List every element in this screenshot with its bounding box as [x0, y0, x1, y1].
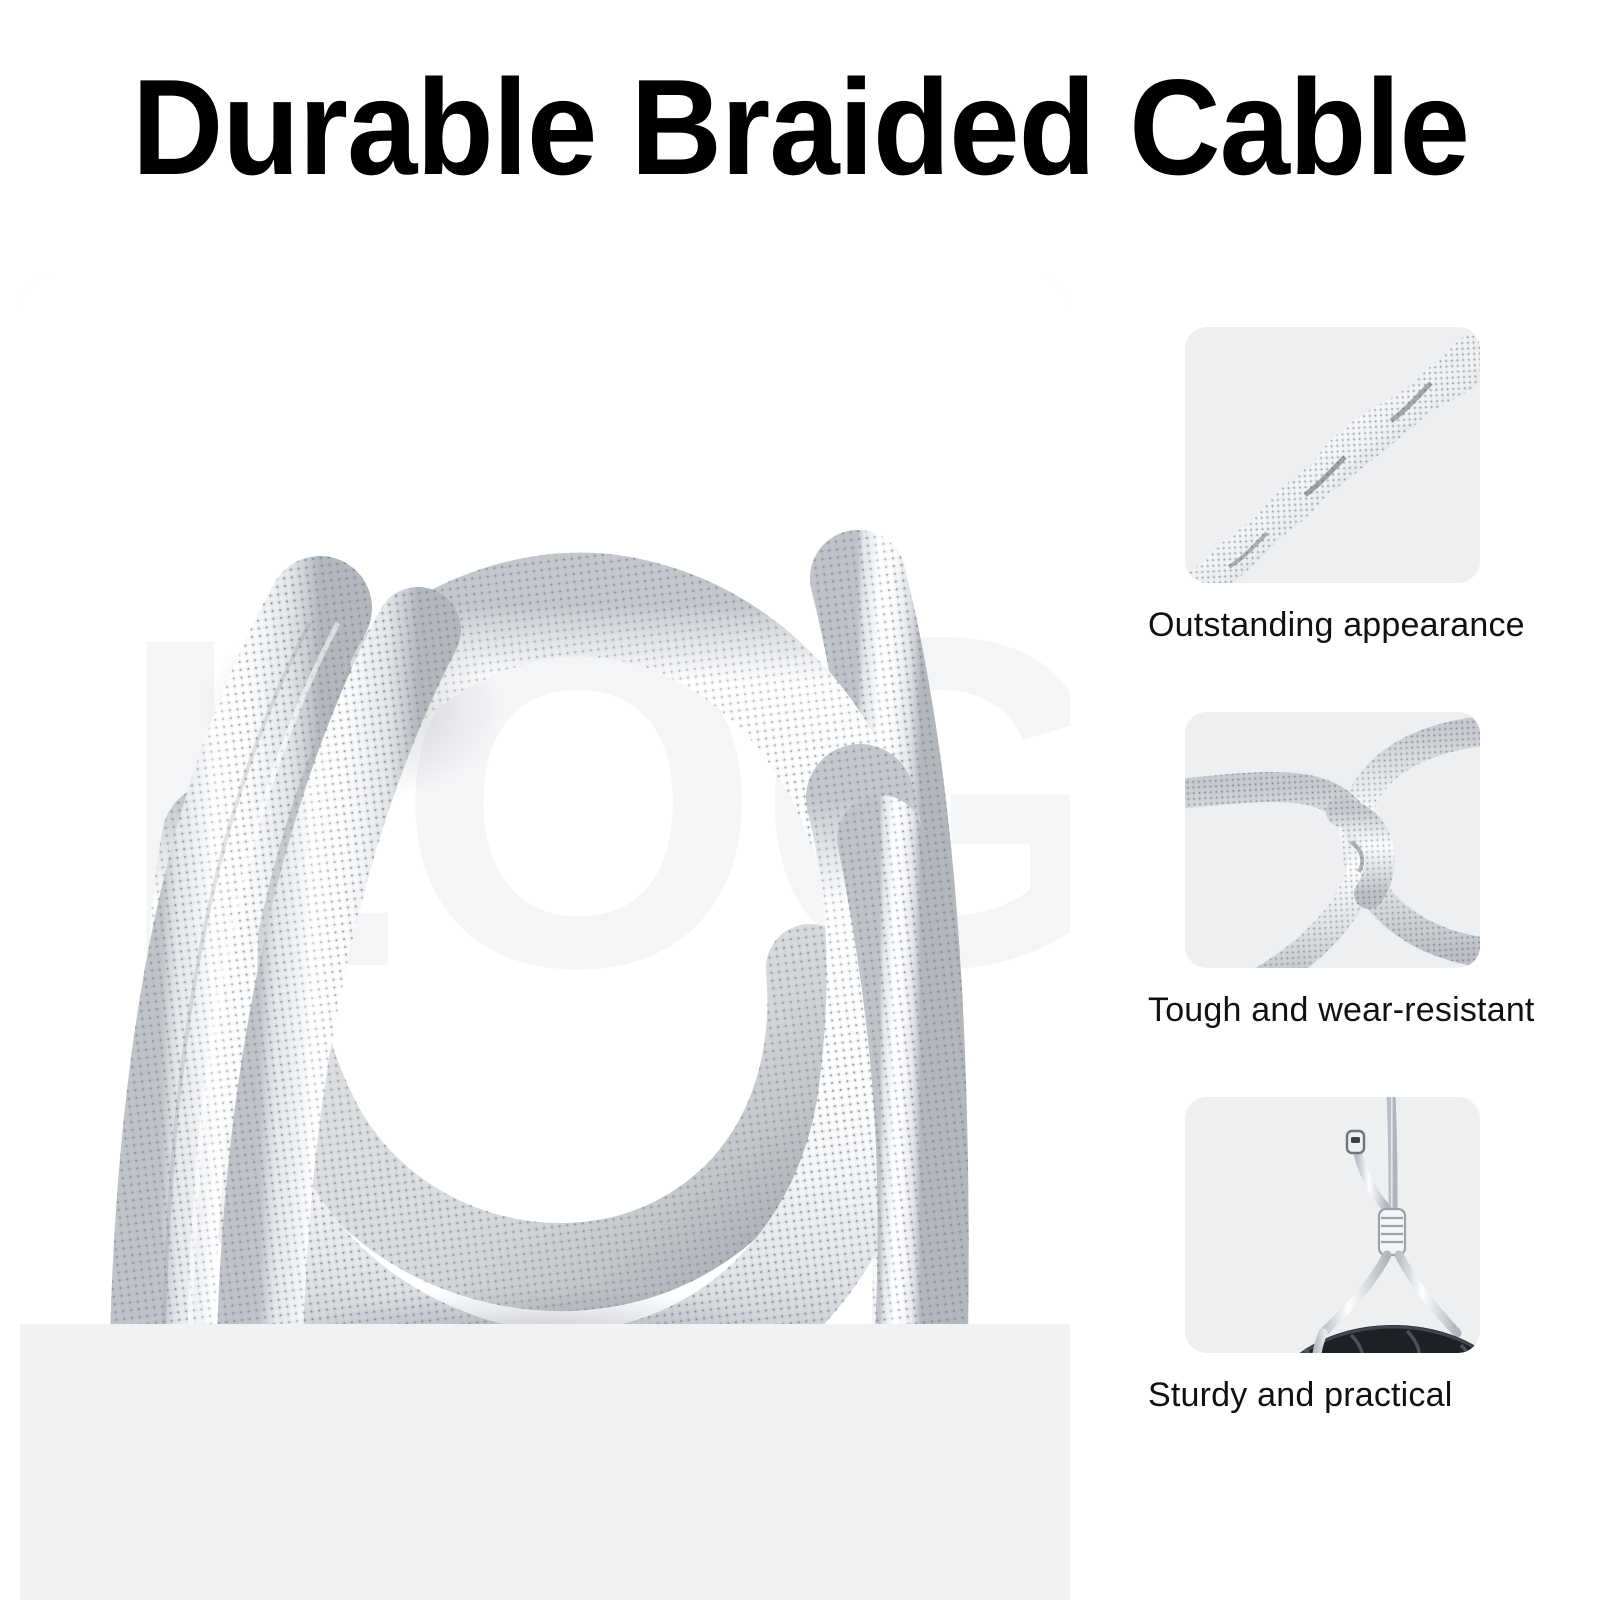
hero-product-card: LOGO [20, 278, 1070, 1600]
page-title: Durable Braided Cable [132, 52, 1472, 202]
hero-product-photo: LOGO [20, 278, 1070, 1324]
feature-thumbnail [1185, 712, 1480, 968]
feature-list: Outstanding appearance [1148, 327, 1548, 1457]
feature-item-outstanding-appearance: Outstanding appearance [1148, 327, 1548, 646]
braided-cable-illustration [20, 278, 1070, 1324]
interlocked-cable-loops-icon [1155, 702, 1515, 992]
feature-caption: Outstanding appearance [1148, 605, 1548, 646]
feature-item-sturdy-practical: Sturdy and practical [1148, 1097, 1548, 1416]
feature-caption: Sturdy and practical [1148, 1375, 1548, 1416]
feature-caption: Tough and wear-resistant [1148, 990, 1548, 1031]
cable-lifting-tire-icon [1155, 1087, 1515, 1377]
page-title-text: Durable Braided Cable [132, 59, 1469, 195]
feature-thumbnail [1185, 327, 1480, 583]
twisted-braided-cables-icon [1155, 317, 1515, 607]
feature-thumbnail [1185, 1097, 1480, 1353]
feature-item-tough-wear-resistant: Tough and wear-resistant [1148, 712, 1548, 1031]
